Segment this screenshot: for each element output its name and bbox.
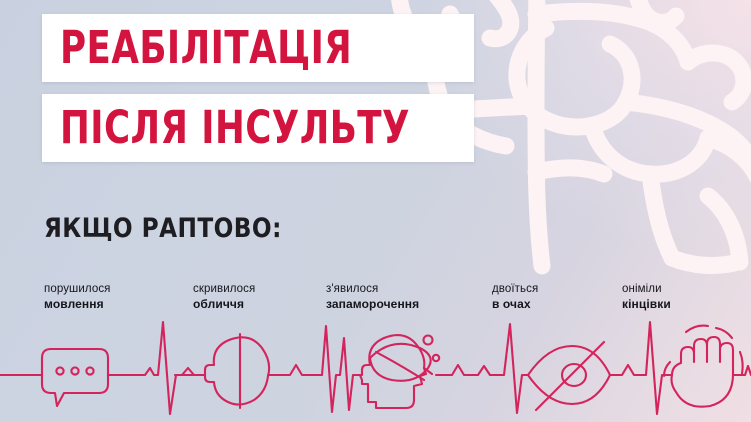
crossed-eye-icon [528,342,610,410]
title-line-1-text: РЕАБІЛІТАЦІЯ [60,25,410,70]
symptom-label-vision-line1: двоїться [492,282,538,297]
infographic-poster: РЕАБІЛІТАЦІЯ ПІСЛЯ ІНСУЛЬТУ ЯКЩО РАПТОВО… [0,0,751,422]
symptom-label-limbs: оніміли кінцівки [622,282,671,312]
ecg-line-illustration [0,318,751,422]
dizzy-head-icon [360,335,439,408]
symptom-label-vision-line2: в очах [492,297,538,312]
symptom-label-speech-line1: порушилося [44,282,111,297]
symptom-label-dizziness-line2: запаморочення [326,297,419,312]
symptom-label-face: скривилося обличчя [193,282,255,312]
symptom-label-limbs-line1: оніміли [622,282,671,297]
subheading: ЯКЩО РАПТОВО: [44,215,282,242]
symptom-label-speech-line2: мовлення [44,297,111,312]
face-profile-icon [205,334,269,408]
symptom-label-dizziness-line1: з'явилося [326,282,419,297]
title-line-2: ПІСЛЯ ІНСУЛЬТУ [42,94,474,162]
symptom-label-vision: двоїться в очах [492,282,538,312]
poster-title: РЕАБІЛІТАЦІЯ ПІСЛЯ ІНСУЛЬТУ [42,14,474,162]
symptom-label-face-line1: скривилося [193,282,255,297]
numb-hand-icon [664,326,743,407]
symptom-label-dizziness: з'явилося запаморочення [326,282,419,312]
speech-bubble-icon [42,349,108,406]
symptom-label-speech: порушилося мовлення [44,282,111,312]
symptom-label-face-line2: обличчя [193,297,255,312]
title-line-1: РЕАБІЛІТАЦІЯ [42,14,474,82]
symptom-label-limbs-line2: кінцівки [622,297,671,312]
title-line-2-text: ПІСЛЯ ІНСУЛЬТУ [60,105,410,150]
